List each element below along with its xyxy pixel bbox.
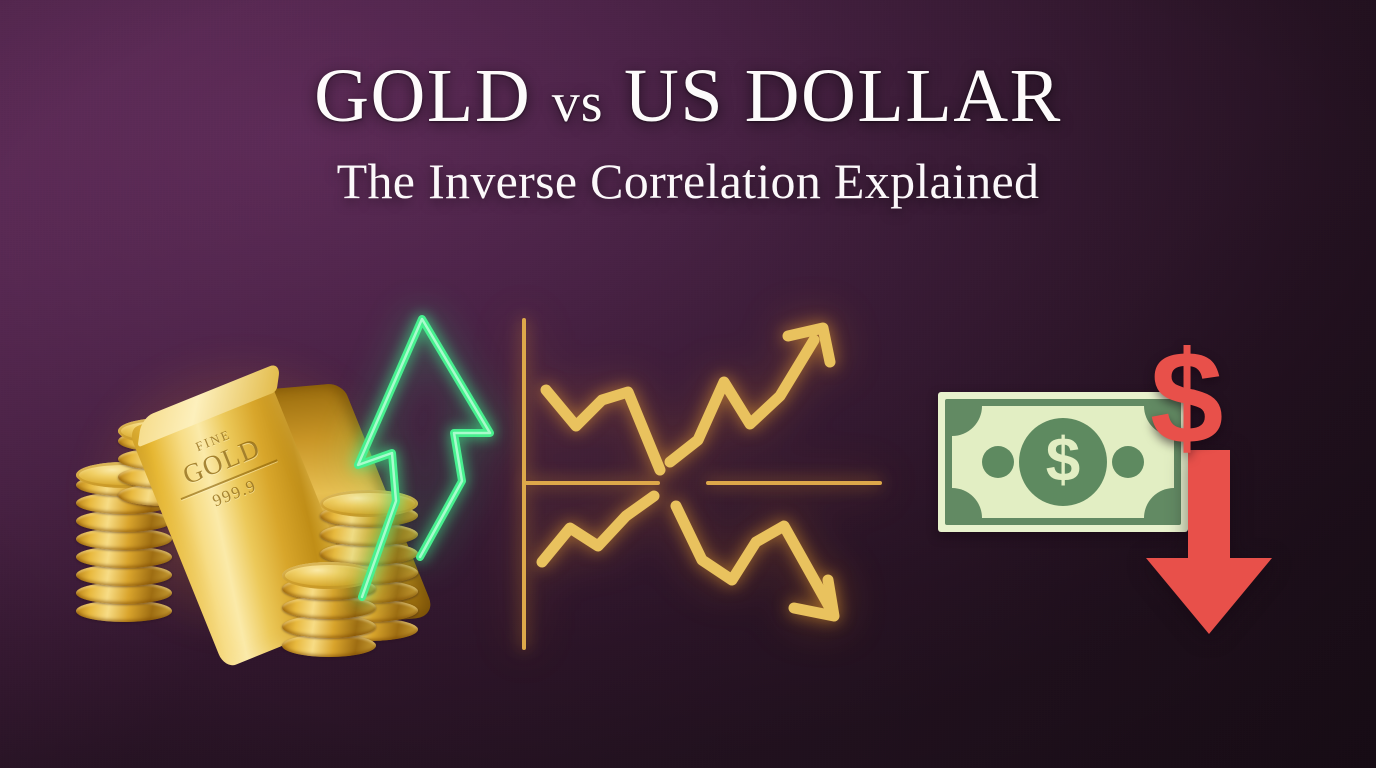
- bill-dot-left: [982, 446, 1014, 478]
- engraving-divider: [181, 459, 278, 500]
- page-subtitle: The Inverse Correlation Explained: [0, 152, 1376, 210]
- gold-panel: FINE GOLD 999.9: [52, 300, 522, 690]
- chart-panel: [498, 300, 888, 670]
- dollar-sign-icon: $: [1046, 430, 1080, 492]
- bill-seal: $: [1019, 418, 1107, 506]
- dollar-panel: $ $: [920, 320, 1320, 670]
- red-dollar-sign-icon: $: [1150, 332, 1223, 464]
- chart-series-dollar: [546, 390, 834, 616]
- bill-dot-right: [1112, 446, 1144, 478]
- engraving-fineness: 999.9: [161, 456, 308, 531]
- bill-corner-bottom-left: [952, 488, 982, 518]
- title-vs: vs: [552, 72, 604, 134]
- infographic-canvas: GOLD vs US DOLLAR The Inverse Correlatio…: [0, 0, 1376, 768]
- title-block: GOLD vs US DOLLAR The Inverse Correlatio…: [0, 58, 1376, 210]
- dollar-bill-field: $: [952, 406, 1174, 518]
- title-part-gold: GOLD: [314, 54, 531, 138]
- bill-corner-top-left: [952, 406, 982, 436]
- title-part-dollar: US DOLLAR: [624, 54, 1062, 138]
- red-down-arrow-icon: [1142, 450, 1276, 636]
- page-title: GOLD vs US DOLLAR: [0, 58, 1376, 136]
- neon-up-arrow-icon: [334, 305, 524, 605]
- inverse-correlation-chart: [498, 300, 888, 670]
